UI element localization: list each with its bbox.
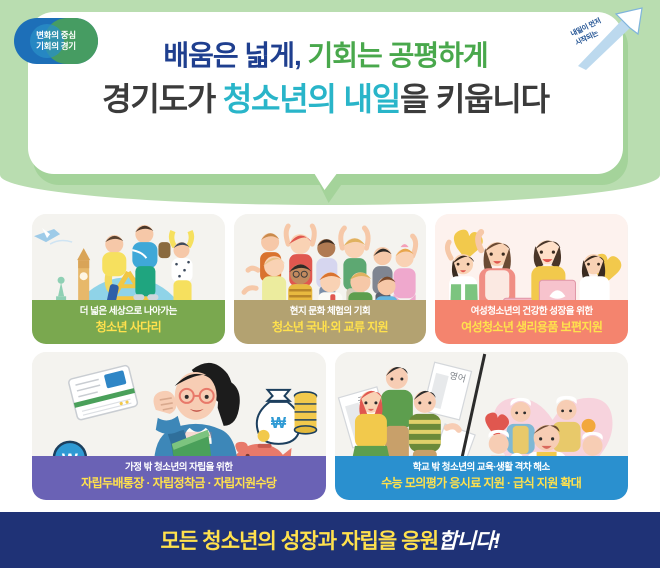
card-exchange[interactable]: 현지 문화 체험의 기회 청소년 국내·외 교류 지원	[234, 214, 427, 344]
footer-text-yellow: 모든 청소년의 성장과 자립을 응원	[161, 530, 439, 553]
caption-main: 자립두배통장 · 자립정착금 · 자립지원수당	[36, 476, 322, 492]
card-caption-education: 학교 밖 청소년의 교육·생활 격차 해소 수능 모의평가 응시료 지원 · 급…	[335, 456, 629, 500]
caption-sub: 현지 문화 체험의 기회	[238, 306, 423, 318]
headline-line2-part2: 청소년의 내일	[223, 81, 400, 117]
policy-cards-bottom-row: ₩ ₩	[32, 352, 628, 500]
card-caption-sanitary: 여성청소년의 건강한 성장을 위한 여성청소년 생리용품 보편지원	[435, 300, 628, 344]
headline-line1-part2: 기회는 공평하게	[308, 40, 488, 71]
gyeonggi-arrow-logo: 내일이 먼저 시작되는	[572, 4, 648, 70]
card-youth-ladder[interactable]: 더 넓은 세상으로 나아가는 청소년 사다리	[32, 214, 225, 344]
caption-main: 여성청소년 생리용품 보편지원	[439, 320, 624, 336]
card-caption-youth-ladder: 더 넓은 세상으로 나아가는 청소년 사다리	[32, 300, 225, 344]
caption-sub: 여성청소년의 건강한 성장을 위한	[439, 306, 624, 318]
footer-text-white: 합니다!	[438, 530, 499, 553]
caption-sub: 더 넓은 세상으로 나아가는	[36, 306, 221, 318]
headline-line2-part1: 경기도가	[102, 81, 215, 117]
logo-left-line1: 변화의 중심	[36, 30, 76, 41]
card-caption-exchange: 현지 문화 체험의 기회 청소년 국내·외 교류 지원	[234, 300, 427, 344]
coin-stack-icon	[295, 392, 317, 434]
footer-bar: 모든 청소년의 성장과 자립을 응원합니다!	[0, 512, 660, 568]
caption-sub: 가정 밖 청소년의 자립을 위한	[36, 462, 322, 474]
card-education[interactable]: 국어 영어 수학	[335, 352, 629, 500]
headline-line2-part3: 을 키웁니다	[400, 81, 549, 117]
caption-main: 수능 모의평가 응시료 지원 · 급식 지원 확대	[339, 476, 625, 492]
caption-main: 청소년 사다리	[36, 320, 221, 336]
headline-line1-part1: 배움은 넓게,	[163, 40, 300, 71]
won-symbol-bag: ₩	[271, 415, 287, 432]
gyeonggi-brand-logo: 변화의 중심 기회의 경기	[14, 18, 98, 64]
caption-sub: 학교 밖 청소년의 교육·생활 격차 해소	[339, 462, 625, 474]
caption-main: 청소년 국내·외 교류 지원	[238, 320, 423, 336]
logo-left-line2: 기회의 경기	[36, 41, 76, 52]
headline: 배움은 넓게, 기회는 공평하게 경기도가 청소년의 내일을 키웁니다	[28, 38, 623, 121]
poster-root: 변화의 중심 기회의 경기 내일이 먼저 시작되는 배움은 넓게, 기회는 공평…	[0, 0, 660, 568]
card-caption-independence: 가정 밖 청소년의 자립을 위한 자립두배통장 · 자립정착금 · 자립지원수당	[32, 456, 326, 500]
card-sanitary[interactable]: 여성청소년의 건강한 성장을 위한 여성청소년 생리용품 보편지원	[435, 214, 628, 344]
policy-cards-top-row: 더 넓은 세상으로 나아가는 청소년 사다리	[32, 214, 628, 344]
card-independence[interactable]: ₩ ₩	[32, 352, 326, 500]
